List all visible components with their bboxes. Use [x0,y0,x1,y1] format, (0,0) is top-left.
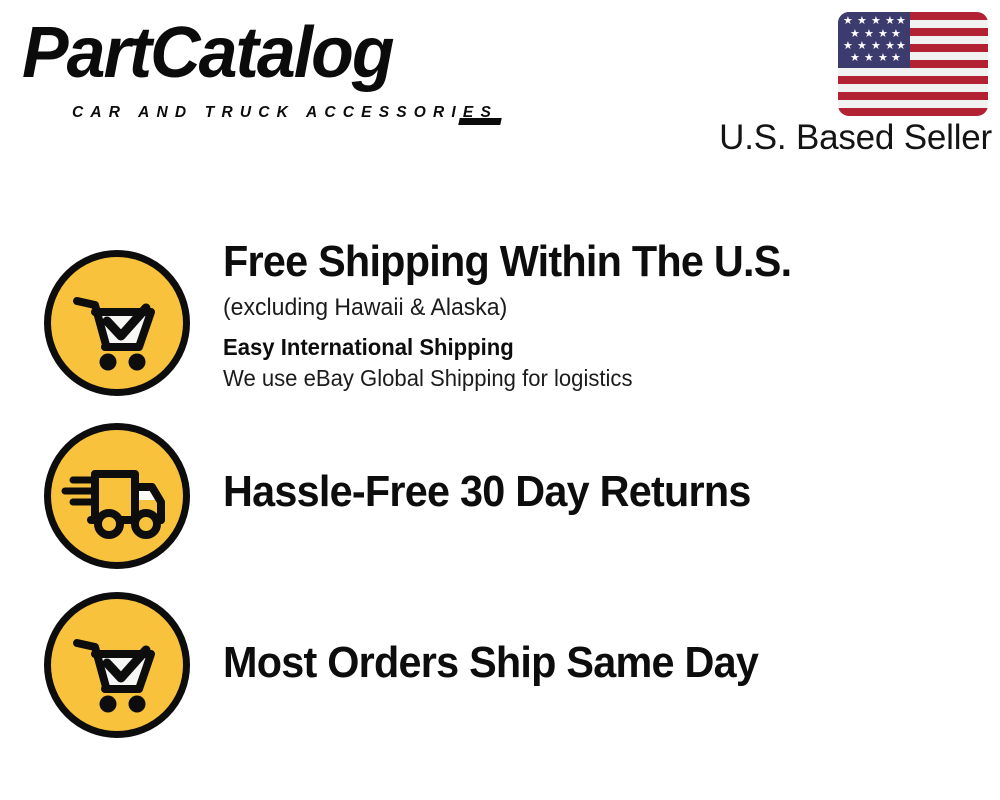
shopping-cart-check-icon [44,592,190,738]
feature-sub-note: We use eBay Global Shipping for logistic… [223,364,803,393]
brand-wordmark: PartCatalog [22,14,393,92]
feature-title: Free Shipping Within The U.S. [223,237,791,287]
flag-stripe [838,76,988,84]
flag-star: ★ [896,41,906,52]
flag-star: ★ [864,53,874,64]
feature-text: Free Shipping Within The U.S. (excluding… [223,237,828,393]
feature-sub-title: Easy International Shipping [223,333,803,361]
flag-star: ★ [878,29,888,40]
feature-text: Hassle-Free 30 Day Returns [223,467,784,517]
flag-star: ★ [864,29,874,40]
flag-stripe [838,84,988,92]
flag-star: ★ [891,53,901,64]
flag-star: ★ [871,41,881,52]
flag-stripe [838,100,988,108]
flag-stripe [838,68,988,76]
seller-badge: ★ ★ ★ ★ ★ ★ ★ ★ ★ ★ ★ ★ ★ ★ ★ ★ ★ ★ U.S.… [712,10,992,160]
flag-star: ★ [896,16,906,27]
flag-stripe [838,92,988,100]
feature-title: Hassle-Free 30 Day Returns [223,467,751,517]
header-bar: PartCatalog CAR AND TRUCK ACCESSORIES ★ … [0,0,1000,180]
feature-row: Most Orders Ship Same Day [0,590,1000,750]
flag-star: ★ [891,29,901,40]
flag-star: ★ [857,16,867,27]
brand-tagline-rule [458,118,501,125]
brand-tagline: CAR AND TRUCK ACCESSORIES [72,104,498,122]
feature-row: Free Shipping Within The U.S. (excluding… [0,232,1000,412]
flag-stripe [838,108,988,116]
flag-star: ★ [871,16,881,27]
flag-star: ★ [885,16,895,27]
flag-star: ★ [885,41,895,52]
flag-star: ★ [857,41,867,52]
flag-star: ★ [843,16,853,27]
us-flag-icon: ★ ★ ★ ★ ★ ★ ★ ★ ★ ★ ★ ★ ★ ★ ★ ★ ★ ★ [838,12,988,116]
seller-label: U.S. Based Seller [712,118,992,158]
flag-canton: ★ ★ ★ ★ ★ ★ ★ ★ ★ ★ ★ ★ ★ ★ ★ ★ ★ ★ [838,12,910,68]
shopping-cart-check-icon [44,250,190,396]
feature-text: Most Orders Ship Same Day [223,638,792,688]
flag-star: ★ [878,53,888,64]
flag-star: ★ [850,29,860,40]
flag-star: ★ [850,53,860,64]
delivery-truck-icon [44,423,190,569]
feature-note: (excluding Hawaii & Alaska) [223,293,803,323]
brand-logo: PartCatalog CAR AND TRUCK ACCESSORIES [22,18,492,113]
feature-title: Most Orders Ship Same Day [223,638,758,688]
flag-star: ★ [843,41,853,52]
feature-row: Hassle-Free 30 Day Returns [0,419,1000,579]
